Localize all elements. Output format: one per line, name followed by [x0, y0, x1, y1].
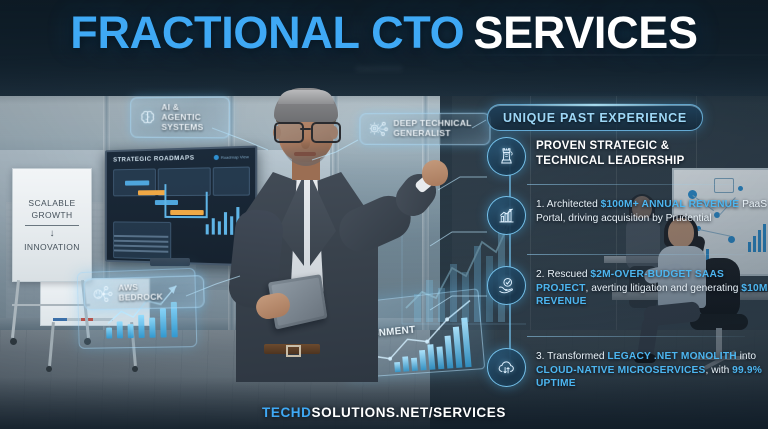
footer-url-plain: SOLUTIONS.NET/SERVICES: [312, 405, 506, 420]
poster-canvas: SCALABLE GROWTH ↓ INNOVATION STRATEGIC R…: [0, 0, 768, 429]
whiteboard-line-3: INNOVATION: [24, 242, 80, 252]
achievement-2-text: 2. Rescued $2M-OVER-BUDGET SAAS PROJECT,…: [536, 266, 768, 309]
heading-line-1: PROVEN STRATEGIC &: [536, 139, 685, 154]
monitor-stand: [150, 258, 190, 266]
chip-label: AWS BEDROCK: [118, 283, 163, 304]
hand-checkmark-icon: [487, 266, 526, 305]
text-highlight: LEGACY .NET MONOLITH: [607, 351, 736, 362]
heading-line-2: TECHNICAL LEADERSHIP: [536, 154, 685, 169]
experience-panel: UNIQUE PAST EXPERIENCE PROVEN STRATEGIC …: [487, 104, 768, 374]
network-nodes-icon: [92, 284, 114, 304]
down-arrow-icon: ↓: [50, 229, 55, 239]
right-hand-gesture: [422, 160, 448, 186]
mouth: [294, 152, 316, 156]
chip-label: DEEP TECHNICAL GENERALIST: [393, 119, 471, 139]
text-plain: Rescued: [547, 269, 590, 280]
whiteboard-line-1: SCALABLE: [28, 198, 75, 208]
monitor-task-rows: [114, 235, 168, 256]
text-plain: Transformed: [547, 351, 607, 362]
title-plain: SERVICES: [473, 7, 697, 58]
chip-aws-bedrock[interactable]: AWS BEDROCK: [83, 275, 204, 310]
footer-url-accent: TECHD: [262, 405, 312, 420]
panel-row-leadership: PROVEN STRATEGIC & TECHNICAL LEADERSHIP: [487, 137, 685, 176]
gear-network-icon: [368, 119, 388, 138]
hair: [274, 88, 338, 122]
chip-label-line-2: GENERALIST: [393, 129, 471, 139]
cloud-sync-icon: [487, 348, 526, 387]
status-badge: UNIQUE PAST EXPERIENCE: [487, 104, 703, 131]
text-highlight: CLOUD-NATIVE MICROSERVICES: [536, 365, 706, 376]
brain-icon: [139, 108, 157, 127]
panel-row-achievement-2: 2. Rescued $2M-OVER-BUDGET SAAS PROJECT,…: [487, 266, 768, 309]
chip-label-line-3: SYSTEMS: [162, 122, 204, 132]
text-plain: Architected: [547, 199, 601, 210]
whiteboard-divider: [25, 225, 79, 226]
growth-bar-chart-icon: [487, 196, 526, 235]
eyeglasses: [273, 122, 339, 140]
text-plain: , with: [706, 365, 733, 376]
bullet-number: 2.: [536, 269, 545, 280]
text-plain: , averting litigation and generating: [586, 283, 742, 294]
belt: [264, 344, 320, 354]
bullet-number: 1.: [536, 199, 545, 210]
monitor-title: STRATEGIC ROADMAPS: [113, 155, 194, 164]
panel-divider: [527, 254, 745, 255]
panel-divider: [527, 184, 745, 185]
panel-heading: PROVEN STRATEGIC & TECHNICAL LEADERSHIP: [536, 137, 685, 168]
whiteboard-scalable-growth: SCALABLE GROWTH ↓ INNOVATION: [12, 168, 92, 282]
panel-row-achievement-3: 3. Transformed LEGACY .NET MONOLITH into…: [487, 348, 768, 391]
status-dot-icon: [214, 155, 219, 160]
footer-url[interactable]: TECHDSOLUTIONS.NET/SERVICES: [0, 405, 768, 420]
title-accent: FRACTIONAL CTO: [70, 7, 464, 58]
page-title: FRACTIONAL CTOSERVICES: [0, 10, 768, 55]
chip-label-line-2: BEDROCK: [119, 292, 164, 303]
text-plain: into: [737, 351, 756, 362]
panel-row-achievement-1: 1. Architected $100M+ ANNUAL REVENUE Paa…: [487, 196, 768, 235]
achievement-1-text: 1. Architected $100M+ ANNUAL REVENUE Paa…: [536, 196, 768, 225]
achievement-3-text: 3. Transformed LEGACY .NET MONOLITH into…: [536, 348, 768, 391]
chip-deep-technical-generalist[interactable]: DEEP TECHNICAL GENERALIST: [359, 113, 490, 145]
chip-ai-agentic-systems[interactable]: AI & AGENTIC SYSTEMS: [130, 97, 230, 139]
whiteboard-line-2: GROWTH: [31, 210, 72, 220]
text-highlight: $100M+ ANNUAL REVENUE: [601, 199, 740, 210]
chip-label: AI & AGENTIC SYSTEMS: [162, 103, 204, 133]
bullet-number: 3.: [536, 351, 545, 362]
chess-rook-trophy-icon: [487, 137, 526, 176]
panel-divider: [527, 336, 745, 337]
